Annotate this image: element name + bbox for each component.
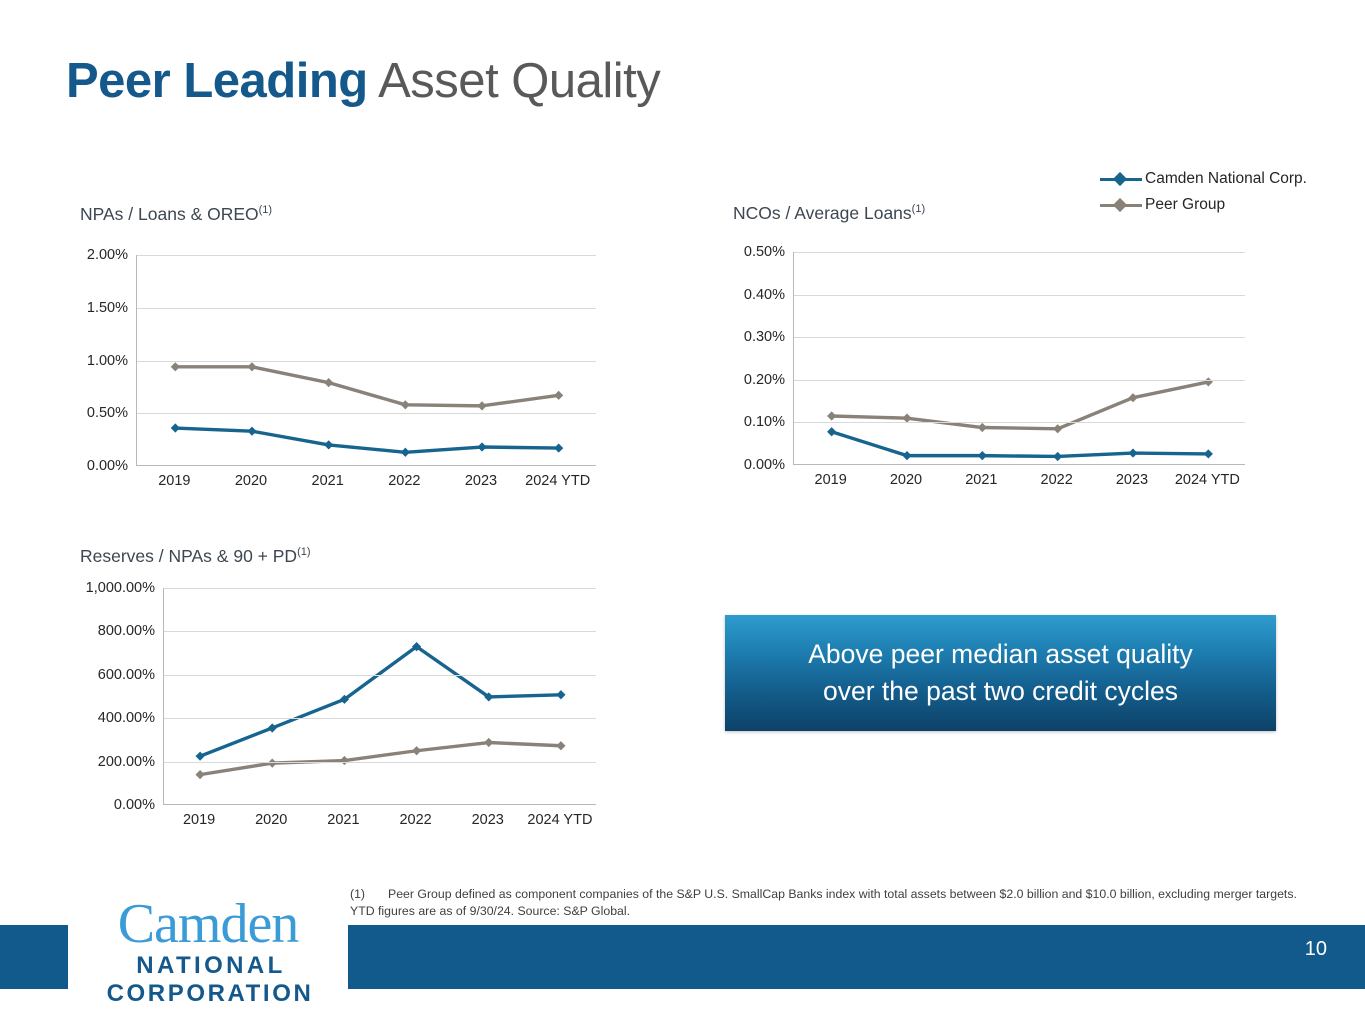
chart-npas-title-sup: (1) <box>259 204 272 216</box>
x-tick-label: 2019 <box>183 812 215 828</box>
gridline <box>137 255 596 256</box>
data-point-marker <box>171 423 180 432</box>
y-tick-label: 0.50% <box>87 405 128 421</box>
data-point-marker <box>978 451 987 460</box>
gridline <box>137 308 596 309</box>
callout-text: Above peer median asset quality over the… <box>808 636 1192 710</box>
gridline <box>794 337 1245 338</box>
footnote-marker: (1) <box>350 886 388 903</box>
chart-reserves-plot-area <box>163 588 596 805</box>
x-tick-label: 2019 <box>815 472 847 488</box>
page-title-strong: Peer Leading <box>66 54 368 108</box>
data-point-marker <box>902 414 911 423</box>
footer-bar-right <box>348 925 1365 989</box>
y-tick-label: 200.00% <box>98 754 155 770</box>
x-tick-label: 2024 YTD <box>527 812 592 828</box>
data-point-marker <box>556 741 565 750</box>
data-point-marker <box>324 440 333 449</box>
chart-ncos-plot: 0.00%0.10%0.20%0.30%0.40%0.50% 201920202… <box>793 252 1245 465</box>
chart-reserves-title-text: Reserves / NPAs & 90 + PD <box>80 546 297 566</box>
gridline <box>137 413 596 414</box>
data-point-marker <box>1128 393 1137 402</box>
x-tick-label: 2022 <box>1041 472 1073 488</box>
callout-line-1: Above peer median asset quality <box>808 636 1192 673</box>
y-tick-label: 0.10% <box>744 414 785 430</box>
chart-npas-plot: 0.00%0.50%1.00%1.50%2.00% 20192020202120… <box>136 255 596 466</box>
data-point-marker <box>324 378 333 387</box>
y-tick-label: 0.40% <box>744 287 785 303</box>
x-tick-label: 2020 <box>890 472 922 488</box>
gridline <box>164 631 596 632</box>
data-point-marker <box>827 427 836 436</box>
data-point-marker <box>171 362 180 371</box>
y-tick-label: 0.00% <box>87 458 128 474</box>
x-tick-label: 2022 <box>399 812 431 828</box>
footnote: (1)Peer Group defined as component compa… <box>350 886 1305 920</box>
data-point-marker <box>247 427 256 436</box>
y-tick-label: 1,000.00% <box>86 580 155 596</box>
series-line <box>175 367 558 406</box>
data-point-marker <box>477 442 486 451</box>
y-tick-label: 600.00% <box>98 667 155 683</box>
x-tick-label: 2021 <box>312 473 344 489</box>
data-point-marker <box>554 443 563 452</box>
x-tick-label: 2020 <box>255 812 287 828</box>
chart-ncos: NCOs / Average Loans(1) 0.00%0.10%0.20%0… <box>733 203 1253 503</box>
chart-npas: NPAs / Loans & OREO(1) 0.00%0.50%1.00%1.… <box>80 204 600 504</box>
x-tick-label: 2020 <box>235 473 267 489</box>
chart-reserves-title: Reserves / NPAs & 90 + PD(1) <box>80 546 311 567</box>
data-point-marker <box>401 400 410 409</box>
page-number: 10 <box>1305 938 1327 961</box>
gridline <box>794 380 1245 381</box>
chart-ncos-x-axis: 201920202021202220232024 YTD <box>793 472 1245 494</box>
chart-reserves-plot: 0.00%200.00%400.00%600.00%800.00%1,000.0… <box>163 588 596 805</box>
chart-ncos-title-sup: (1) <box>912 203 925 215</box>
gridline <box>164 588 596 589</box>
data-point-marker <box>195 752 204 761</box>
y-tick-label: 400.00% <box>98 710 155 726</box>
series-line <box>175 428 558 452</box>
data-point-marker <box>1053 424 1062 433</box>
data-point-marker <box>401 448 410 457</box>
chart-npas-plot-area <box>136 255 596 466</box>
chart-reserves-series-svg <box>164 588 597 805</box>
legend-swatch-camden-icon <box>1100 172 1142 186</box>
chart-reserves: Reserves / NPAs & 90 + PD(1) 0.00%200.00… <box>80 546 600 846</box>
y-tick-label: 0.00% <box>744 457 785 473</box>
gridline <box>794 295 1245 296</box>
data-point-marker <box>1053 452 1062 461</box>
callout-box: Above peer median asset quality over the… <box>725 615 1276 731</box>
data-point-marker <box>556 690 565 699</box>
data-point-marker <box>247 362 256 371</box>
data-point-marker <box>978 423 987 432</box>
legend-label-camden: Camden National Corp. <box>1145 170 1307 188</box>
gridline <box>137 361 596 362</box>
chart-npas-title: NPAs / Loans & OREO(1) <box>80 204 272 225</box>
chart-npas-title-text: NPAs / Loans & OREO <box>80 204 259 224</box>
gridline <box>164 718 596 719</box>
y-tick-label: 1.50% <box>87 300 128 316</box>
x-tick-label: 2021 <box>327 812 359 828</box>
chart-ncos-series-svg <box>794 252 1246 465</box>
data-point-marker <box>902 451 911 460</box>
y-tick-label: 0.00% <box>114 797 155 813</box>
x-tick-label: 2023 <box>1116 472 1148 488</box>
data-point-marker <box>1204 449 1213 458</box>
x-tick-label: 2022 <box>388 473 420 489</box>
y-tick-label: 800.00% <box>98 623 155 639</box>
gridline <box>794 422 1245 423</box>
slide: Peer Leading Asset Quality Camden Nation… <box>0 0 1365 1024</box>
series-line <box>200 743 561 775</box>
data-point-marker <box>1204 377 1213 386</box>
data-point-marker <box>1128 448 1137 457</box>
y-tick-label: 0.50% <box>744 244 785 260</box>
legend-item-camden: Camden National Corp. <box>1100 166 1350 192</box>
chart-npas-x-axis: 201920202021202220232024 YTD <box>136 473 596 495</box>
data-point-marker <box>554 391 563 400</box>
chart-ncos-title-text: NCOs / Average Loans <box>733 203 912 223</box>
y-tick-label: 1.00% <box>87 353 128 369</box>
y-tick-label: 2.00% <box>87 247 128 263</box>
data-point-marker <box>827 411 836 420</box>
logo-subtitle-national: NATIONAL <box>72 952 344 980</box>
callout-line-2: over the past two credit cycles <box>808 673 1192 710</box>
x-tick-label: 2021 <box>965 472 997 488</box>
x-tick-label: 2023 <box>465 473 497 489</box>
data-point-marker <box>340 756 349 765</box>
data-point-marker <box>477 401 486 410</box>
page-title-rest: Asset Quality <box>368 54 661 108</box>
page-title: Peer Leading Asset Quality <box>66 52 660 110</box>
data-point-marker <box>195 770 204 779</box>
gridline <box>164 675 596 676</box>
x-tick-label: 2019 <box>158 473 190 489</box>
chart-reserves-title-sup: (1) <box>297 546 310 558</box>
x-tick-label: 2024 YTD <box>525 473 590 489</box>
logo-subtitle-corporation: CORPORATION <box>72 980 344 1008</box>
gridline <box>164 762 596 763</box>
y-tick-label: 0.30% <box>744 329 785 345</box>
data-point-marker <box>484 738 493 747</box>
data-point-marker <box>268 759 277 768</box>
footer-bar-left <box>0 925 68 989</box>
logo-wordmark: Camden <box>72 896 344 952</box>
x-tick-label: 2024 YTD <box>1175 472 1240 488</box>
chart-ncos-plot-area <box>793 252 1245 465</box>
footnote-text: Peer Group defined as component companie… <box>350 887 1297 918</box>
data-point-marker <box>268 723 277 732</box>
gridline <box>794 252 1245 253</box>
chart-reserves-x-axis: 201920202021202220232024 YTD <box>163 812 596 834</box>
chart-ncos-title: NCOs / Average Loans(1) <box>733 203 925 224</box>
y-tick-label: 0.20% <box>744 372 785 388</box>
series-line <box>832 432 1209 457</box>
camden-national-logo: Camden NATIONAL CORPORATION <box>72 896 344 1008</box>
series-line <box>200 647 561 757</box>
data-point-marker <box>412 746 421 755</box>
x-tick-label: 2023 <box>472 812 504 828</box>
